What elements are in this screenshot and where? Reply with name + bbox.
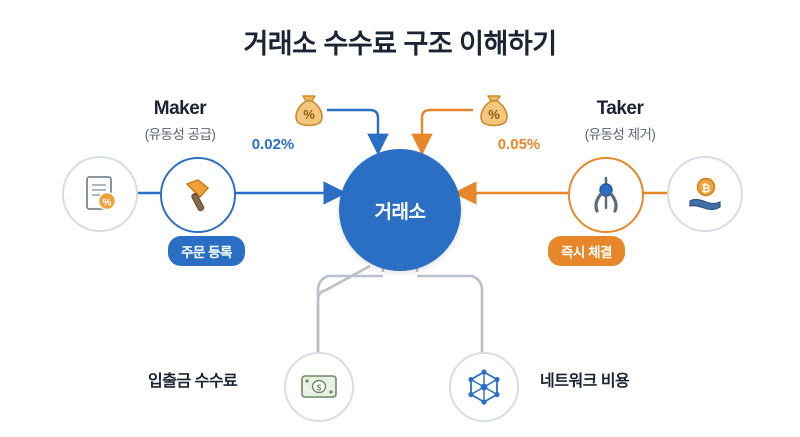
network-cost-bubble [449, 352, 519, 422]
document-percent-icon: % [82, 174, 118, 214]
taker-source-bubble: ₿ [667, 156, 743, 232]
svg-text:%: % [488, 107, 500, 122]
maker-role-bubble [160, 157, 236, 233]
taker-fee-icon-wrap: % [473, 88, 515, 137]
exchange-node: 거래소 [339, 149, 461, 271]
maker-pill: 주문 등록 [168, 236, 245, 266]
withdrawal-fee-bubble: $ [284, 352, 354, 422]
maker-fee-label: 0.02% [218, 136, 328, 153]
svg-text:%: % [303, 107, 315, 122]
taker-title: Taker [540, 98, 700, 120]
taker-fee-label: 0.05% [464, 136, 574, 153]
money-bag-percent-icon: % [473, 88, 515, 132]
taker-role-bubble [568, 157, 644, 233]
maker-fee-icon-wrap: % [288, 88, 330, 137]
taker-pill: 즉시 체결 [548, 236, 625, 266]
hand-bitcoin-icon: ₿ [685, 174, 725, 214]
exchange-label: 거래소 [375, 197, 426, 224]
withdrawal-fee-label: 입출금 수수료 [148, 367, 237, 391]
svg-text:₿: ₿ [702, 183, 711, 195]
claw-grabber-icon [586, 174, 626, 216]
money-bag-percent-icon: % [288, 88, 330, 132]
infographic-canvas: 거래소 수수료 구조 이해하기 [0, 0, 800, 437]
svg-text:$: $ [317, 384, 322, 393]
network-nodes-icon [465, 368, 503, 406]
svg-text:%: % [103, 198, 112, 209]
banknote-icon: $ [300, 372, 338, 402]
maker-title: Maker [100, 98, 260, 120]
network-cost-label: 네트워크 비용 [540, 367, 629, 391]
maker-source-bubble: % [62, 156, 138, 232]
hammer-icon [178, 175, 218, 215]
